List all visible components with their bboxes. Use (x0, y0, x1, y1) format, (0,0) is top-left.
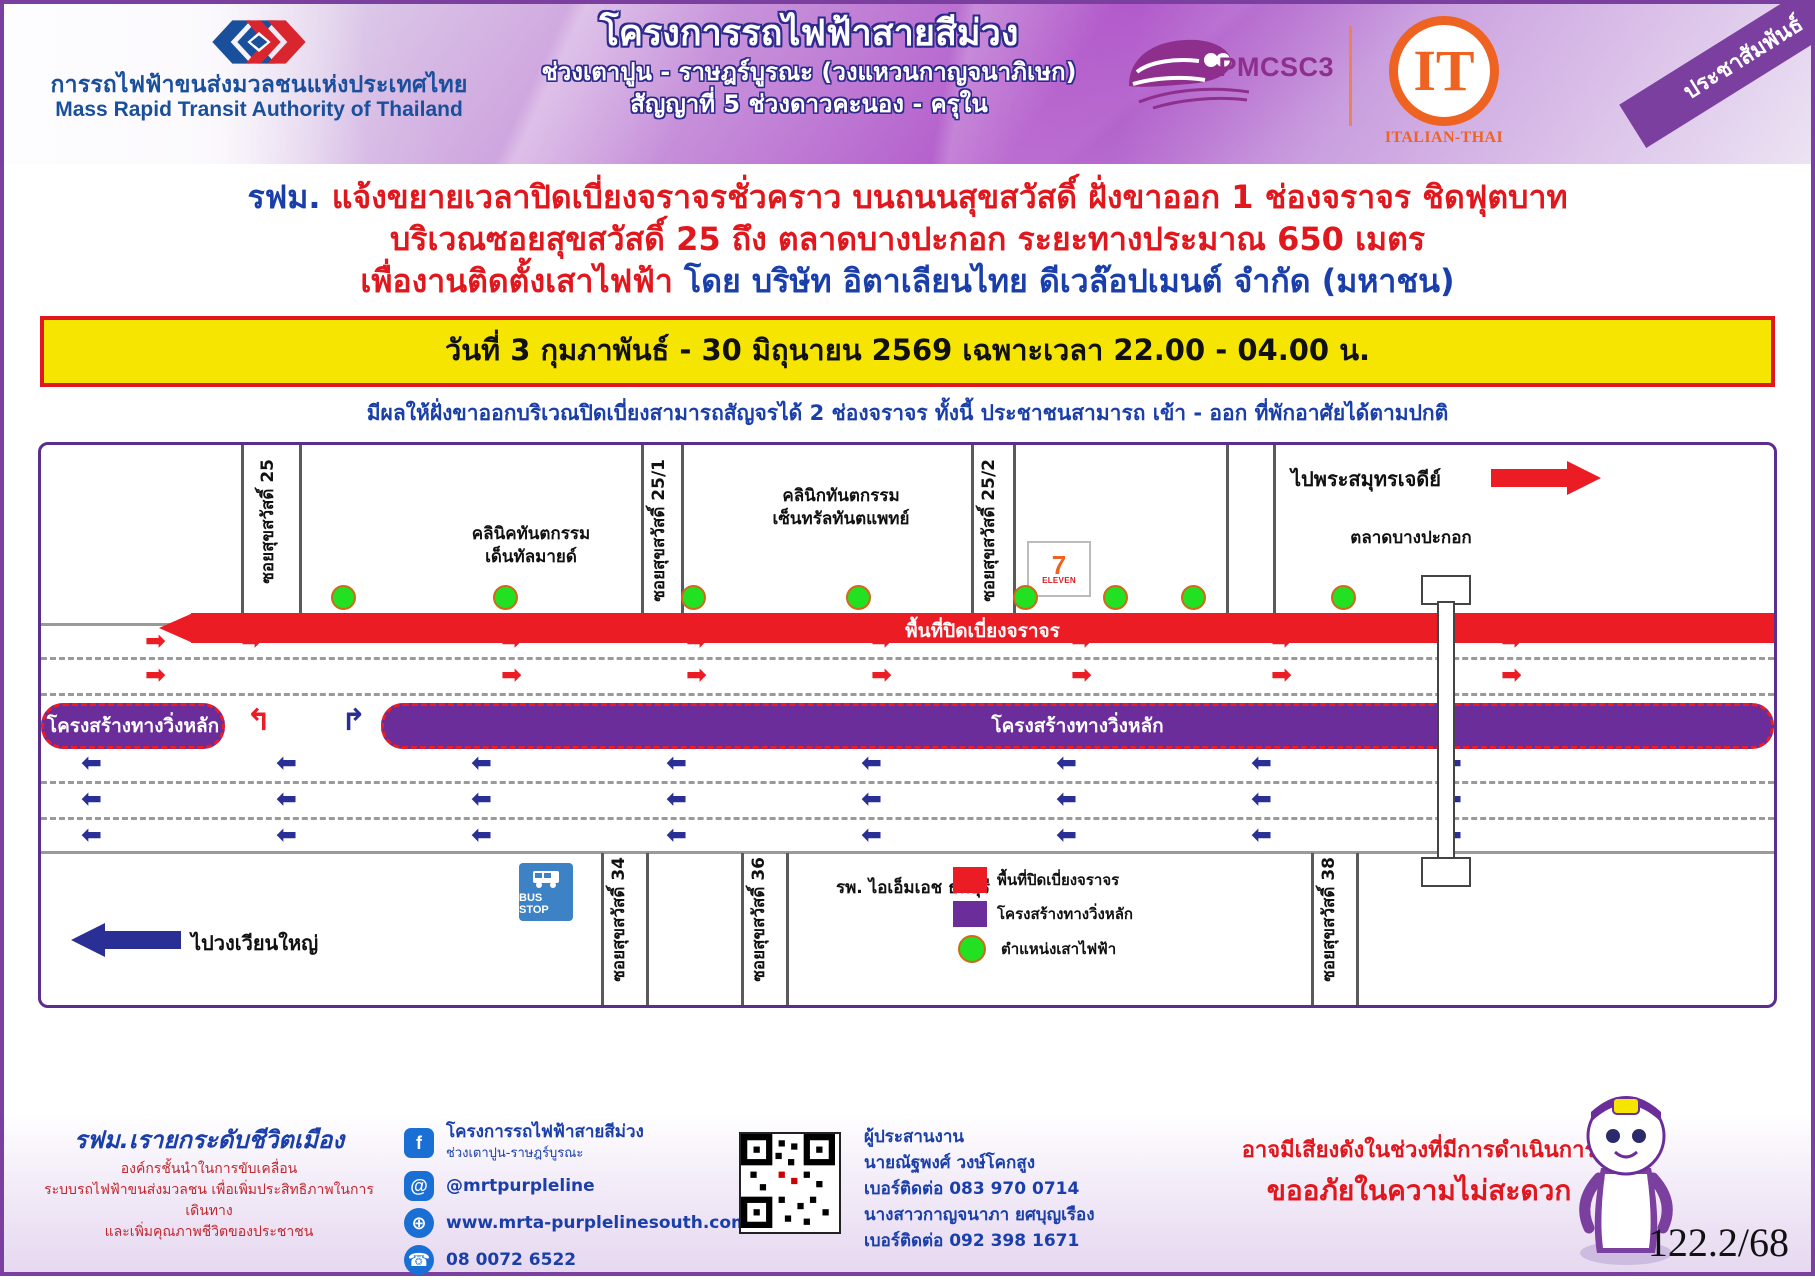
traffic-arrow-in: ⬅ (81, 823, 102, 848)
inbound-sidewalk-edge (41, 851, 1774, 854)
poi-dental-clinic-2-line1: คลินิกทันตกรรม (731, 485, 951, 508)
traffic-arrow-out: ➡ (501, 663, 522, 688)
soi-label-25-2: ซอยสุขสวัสดิ์ 25/2 (975, 459, 1002, 602)
power-pole-marker (1181, 585, 1206, 610)
italian-thai-logo: IT ITALIAN-THAI (1379, 16, 1509, 147)
footer-social-links: f โครงการรถไฟฟ้าสายสีม่วง ช่วงเตาปูน-ราษ… (404, 1122, 749, 1282)
announcement-purpose: เพื่องานติดตั้งเสาไฟฟ้า (360, 262, 673, 300)
announcement-page: การรถไฟฟ้าขนส่งมวลชนแห่งประเทศไทย Mass R… (0, 0, 1815, 1276)
page-footer: รฟม.เรายกระดับชีวิตเมือง องค์กรชั้นนำในก… (4, 1112, 1811, 1272)
traffic-arrow-in: ⬅ (1056, 787, 1077, 812)
main-structure-right-label: โครงสร้างทางวิ่งหลัก (991, 711, 1163, 741)
legend-label-main-structure: โครงสร้างทางวิ่งหลัก (997, 902, 1133, 926)
seven-eleven-number: 7 (1052, 554, 1066, 576)
header-divider (1349, 26, 1352, 126)
poi-dental-clinic-2: คลินิกทันตกรรม เซ็นทรัลทันตแพทย์ (731, 485, 951, 531)
project-title: โครงการรถไฟฟ้าสายสีม่วง (504, 12, 1114, 56)
map-legend: พื้นที่ปิดเบี่ยงจราจร โครงสร้างทางวิ่งหล… (953, 867, 1133, 971)
facebook-page-sub: ช่วงเตาปูน-ราษฎร์บูรณะ (446, 1143, 644, 1164)
direction-arrow-left-icon (71, 923, 181, 962)
project-section-2: สัญญาที่ 5 ช่วงดาวคะนอง - ครุใน (504, 88, 1114, 120)
traffic-arrow-out: ➡ (1501, 663, 1522, 688)
facebook-page-main: โครงการรถไฟฟ้าสายสีม่วง (446, 1122, 644, 1142)
footer-slogan: รฟม.เรายกระดับชีวิตเมือง (44, 1120, 374, 1159)
legend-item: โครงสร้างทางวิ่งหลัก (953, 901, 1133, 927)
social-row-facebook[interactable]: f โครงการรถไฟฟ้าสายสีม่วง ช่วงเตาปูน-ราษ… (404, 1122, 749, 1164)
lane-divider-in-2 (41, 817, 1774, 820)
bus-icon (531, 869, 561, 889)
page-number: 122.2/68 (1648, 1219, 1789, 1266)
qr-code (739, 1132, 841, 1234)
soi-label-36: ซอยสุขสวัสดิ์ 36 (745, 857, 772, 982)
project-title-block: โครงการรถไฟฟ้าสายสีม่วง ช่วงเตาปูน - ราษ… (504, 12, 1114, 120)
traffic-arrow-in: ⬅ (276, 823, 297, 848)
top-block-divider-2 (1273, 445, 1276, 625)
traffic-arrow-out: ➡ (1071, 629, 1092, 654)
announcement-line-1-text: แจ้งขยายเวลาปิดเบี่ยงจราจรชั่วคราว บนถนน… (332, 178, 1568, 216)
main-structure-left-segment: โครงสร้างทางวิ่งหลัก (41, 703, 225, 749)
italian-thai-circle-icon: IT (1389, 16, 1499, 126)
traffic-arrow-in: ⬅ (81, 787, 102, 812)
u-turn-marker-red: ↰ (246, 703, 271, 738)
soi-label-25-1: ซอยสุขสวัสดิ์ 25/1 (645, 459, 672, 602)
coordinator-phone-1: เบอร์ติดต่อ 083 970 0714 (864, 1176, 1095, 1202)
poi-dental-clinic-1: คลินิคทันตกรรม เด็นทัลมายด์ (441, 523, 621, 569)
legend-item: พื้นที่ปิดเบี่ยงจราจร (953, 867, 1133, 893)
coordinator-title: ผู้ประสานงาน (864, 1124, 1095, 1150)
footer-value-3: และเพิ่มคุณภาพชีวิตของประชาชน (44, 1222, 374, 1243)
social-row-instagram[interactable]: @ @mrtpurpleline (404, 1171, 749, 1201)
poi-market: ตลาดบางปะกอก (1311, 527, 1511, 550)
u-turn-marker-blue: ↱ (341, 703, 366, 738)
traffic-arrow-out: ➡ (686, 629, 707, 654)
traffic-arrow-out: ➡ (1501, 629, 1522, 654)
coordinator-block: ผู้ประสานงาน นายณัฐพงศ์ วงษ์โคกสูง เบอร์… (864, 1124, 1095, 1254)
footer-slogan-block: รฟม.เรายกระดับชีวิตเมือง องค์กรชั้นนำในก… (44, 1120, 374, 1243)
announcement-block: รฟม. แจ้งขยายเวลาปิดเบี่ยงจราจรชั่วคราว … (4, 164, 1811, 306)
traffic-arrow-in: ⬅ (276, 751, 297, 776)
power-pole-marker (331, 585, 356, 610)
closed-area-band-label: พื้นที่ปิดเบี่ยงจราจร (191, 616, 1774, 646)
social-row-website[interactable]: ⊕ www.mrta-purplelinesouth.com (404, 1208, 749, 1238)
legend-item: ตำแหน่งเสาไฟฟ้า (953, 935, 1133, 963)
poi-dental-clinic-2-line2: เซ็นทรัลทันตแพทย์ (731, 508, 951, 531)
traffic-arrow-in: ⬅ (861, 751, 882, 776)
soi-38-line-left (1311, 853, 1314, 1005)
traffic-arrow-out: ➡ (686, 663, 707, 688)
power-pole-marker (846, 585, 871, 610)
instagram-handle: @mrtpurpleline (446, 1176, 595, 1197)
soi-36-line-right (786, 853, 789, 1005)
traffic-arrow-in: ⬅ (81, 751, 102, 776)
pedestrian-bridge-bottom (1421, 857, 1471, 887)
traffic-arrow-out: ➡ (871, 663, 892, 688)
power-pole-marker (681, 585, 706, 610)
legend-swatch-main-structure (953, 901, 987, 927)
globe-icon[interactable]: ⊕ (404, 1208, 434, 1238)
traffic-arrow-out: ➡ (1271, 629, 1292, 654)
soi-34-line-left (601, 853, 604, 1005)
direction-label-right: ไปพระสมุทรเจดีย์ (1291, 463, 1441, 495)
traffic-arrow-in: ⬅ (1056, 751, 1077, 776)
announcement-line-1: รฟม. แจ้งขยายเวลาปิดเบี่ยงจราจรชั่วคราว … (4, 176, 1811, 218)
soi-25-line-left (241, 445, 244, 625)
footer-value-1: องค์กรชั้นนำในการขับเคลื่อน (44, 1159, 374, 1180)
italian-thai-name: ITALIAN-THAI (1379, 129, 1509, 147)
traffic-arrow-out: ➡ (1271, 663, 1292, 688)
traffic-arrow-in: ⬅ (666, 787, 687, 812)
soi-25-2-line-left (971, 445, 974, 625)
mrta-logo-icon (209, 14, 309, 70)
agency-abbrev: รฟม. (247, 178, 320, 216)
announcement-line-2: บริเวณซอยสุขสวัสดิ์ 25 ถึง ตลาดบางปะกอก … (4, 218, 1811, 260)
traffic-arrow-in: ⬅ (861, 823, 882, 848)
phone-number: 08 0072 6522 (446, 1250, 576, 1271)
top-block-divider-1 (1226, 445, 1229, 625)
soi-34-line-right (646, 853, 649, 1005)
date-banner: วันที่ 3 กุมภาพันธ์ - 30 มิถุนายน 2569 เ… (40, 316, 1775, 387)
date-banner-text: วันที่ 3 กุมภาพันธ์ - 30 มิถุนายน 2569 เ… (445, 333, 1370, 367)
bus-stop-sign: BUS STOP (519, 863, 573, 921)
traffic-arrow-out: ➡ (871, 629, 892, 654)
coordinator-phone-2: เบอร์ติดต่อ 092 398 1671 (864, 1228, 1095, 1254)
soi-36-line-left (741, 853, 744, 1005)
soi-label-25: ซอยสุขสวัสดิ์ 25 (254, 459, 281, 584)
poi-dental-clinic-1-line1: คลินิคทันตกรรม (441, 523, 621, 546)
legend-label-closed-area: พื้นที่ปิดเบี่ยงจราจร (997, 868, 1119, 892)
announcement-contractor: โดย บริษัท อิตาเลียนไทย ดีเวล๊อปเมนต์ จำ… (684, 262, 1455, 300)
seven-eleven-text: ELEVEN (1042, 576, 1076, 585)
traffic-arrow-in: ⬅ (1251, 751, 1272, 776)
mrta-name-thai: การรถไฟฟ้าขนส่งมวลชนแห่งประเทศไทย (24, 72, 494, 98)
soi-25-1-line-left (641, 445, 644, 625)
coordinator-name-2: นางสาวกาญจนาภา ยศบุญเรือง (864, 1202, 1095, 1228)
facebook-page-name: โครงการรถไฟฟ้าสายสีม่วง ช่วงเตาปูน-ราษฎร… (446, 1122, 644, 1164)
main-structure-left-label: โครงสร้างทางวิ่งหลัก (47, 711, 219, 741)
traffic-arrow-in: ⬅ (666, 751, 687, 776)
project-section-1: ช่วงเตาปูน - ราษฎร์บูรณะ (วงแหวนกาญจนาภิ… (504, 56, 1114, 88)
direction-label-left: ไปวงเวียนใหญ่ (191, 927, 318, 959)
instagram-icon[interactable]: @ (404, 1171, 434, 1201)
facebook-icon[interactable]: f (404, 1128, 434, 1158)
pedestrian-bridge-column (1437, 601, 1455, 865)
mrta-branding: การรถไฟฟ้าขนส่งมวลชนแห่งประเทศไทย Mass R… (24, 14, 494, 122)
traffic-arrow-in: ⬅ (861, 787, 882, 812)
coordinator-name-1: นายณัฐพงศ์ วงษ์โคกสูง (864, 1150, 1095, 1176)
traffic-arrow-out: ➡ (145, 663, 166, 688)
traffic-arrow-in: ⬅ (1251, 787, 1272, 812)
traffic-arrow-in: ⬅ (471, 823, 492, 848)
italian-thai-letters: IT (1398, 25, 1490, 117)
traffic-arrow-in: ⬅ (1251, 823, 1272, 848)
traffic-arrow-out: ➡ (501, 629, 522, 654)
pmcsc-label: PMCSC3 (1218, 52, 1334, 83)
traffic-arrow-in: ⬅ (1056, 823, 1077, 848)
closed-area-band: พื้นที่ปิดเบี่ยงจราจร (191, 613, 1774, 643)
soi-25-line-right (299, 445, 302, 625)
traffic-arrow-in: ⬅ (666, 823, 687, 848)
phone-icon[interactable]: ☎ (404, 1245, 434, 1275)
website-url: www.mrta-purplelinesouth.com (446, 1213, 749, 1234)
traffic-arrow-in: ⬅ (471, 787, 492, 812)
social-row-phone[interactable]: ☎ 08 0072 6522 (404, 1245, 749, 1275)
power-pole-marker (493, 585, 518, 610)
page-header: การรถไฟฟ้าขนส่งมวลชนแห่งประเทศไทย Mass R… (4, 4, 1811, 164)
lane-divider-out-2 (41, 693, 1774, 696)
legend-swatch-power-pole (958, 935, 986, 963)
mrta-name-english: Mass Rapid Transit Authority of Thailand (24, 98, 494, 122)
traffic-note: มีผลให้ฝั่งขาออกบริเวณปิดเบี่ยงสามารถสัญ… (4, 397, 1811, 430)
traffic-arrow-out: ➡ (145, 629, 166, 654)
traffic-arrow-out: ➡ (1071, 663, 1092, 688)
lane-divider-out-1 (41, 657, 1774, 660)
closed-area-right-tip (1680, 613, 1714, 643)
bus-stop-label: BUS STOP (519, 892, 573, 916)
public-relations-ribbon: ประชาสัมพันธ์ (1619, 4, 1811, 148)
poi-dental-clinic-1-line2: เด็นทัลมายด์ (441, 546, 621, 569)
lane-divider-in-1 (41, 781, 1774, 784)
traffic-diversion-map: ซอยสุขสวัสดิ์ 25 ซอยสุขสวัสดิ์ 25/1 ซอยส… (38, 442, 1777, 1008)
traffic-arrow-out: ➡ (241, 629, 262, 654)
power-pole-marker (1103, 585, 1128, 610)
announcement-line-3: เพื่องานติดตั้งเสาไฟฟ้า โดย บริษัท อิตาเ… (4, 260, 1811, 302)
footer-value-2: ระบบรถไฟฟ้าขนส่งมวลชน เพื่อเพิ่มประสิทธิ… (44, 1180, 374, 1222)
legend-label-power-pole: ตำแหน่งเสาไฟฟ้า (1001, 937, 1116, 961)
direction-arrow-right-icon (1491, 461, 1601, 500)
power-pole-marker (1013, 585, 1038, 610)
soi-label-34: ซอยสุขสวัสดิ์ 34 (605, 857, 632, 982)
seven-eleven-store: 7 ELEVEN (1027, 541, 1091, 597)
power-pole-marker (1331, 585, 1356, 610)
traffic-arrow-in: ⬅ (276, 787, 297, 812)
main-structure-right-segment: โครงสร้างทางวิ่งหลัก (381, 703, 1774, 749)
pmcsc-logo: PMCSC3 (1119, 24, 1334, 114)
traffic-arrow-in: ⬅ (471, 751, 492, 776)
legend-swatch-closed-area (953, 867, 987, 893)
soi-38-line-right (1356, 853, 1359, 1005)
soi-label-38: ซอยสุขสวัสดิ์ 38 (1315, 857, 1342, 982)
